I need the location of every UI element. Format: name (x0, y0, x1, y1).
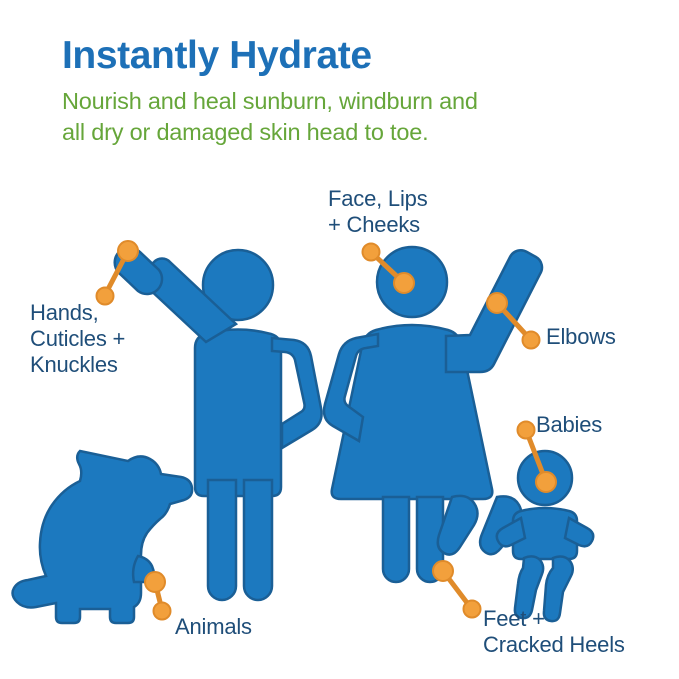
connector-animals (145, 572, 171, 620)
callout-label-face: Face, Lips + Cheeks (328, 186, 428, 238)
callout-label-feet: Feet + Cracked Heels (483, 606, 625, 658)
connector-elbows-label-dot (523, 332, 540, 349)
figure-dog (13, 451, 193, 623)
connector-elbows-anchor-dot (487, 293, 507, 313)
connector-feet (433, 561, 481, 618)
connector-animals-label-dot (154, 603, 171, 620)
connector-babies-anchor-dot (536, 472, 556, 492)
callout-label-elbows: Elbows (546, 324, 616, 350)
man-leg-left (208, 480, 236, 600)
man-leg-right (244, 480, 272, 600)
connector-animals-anchor-dot (145, 572, 165, 592)
callout-label-animals: Animals (175, 614, 252, 640)
callout-label-hands: Hands, Cuticles + Knuckles (30, 300, 125, 378)
connector-face-anchor-dot (394, 273, 414, 293)
connector-feet-label-dot (464, 601, 481, 618)
figure-man (115, 248, 322, 600)
dog-body (13, 451, 193, 623)
connector-feet-anchor-dot (433, 561, 453, 581)
callout-label-babies: Babies (536, 412, 602, 438)
woman-leg-left (383, 497, 409, 582)
connector-hands-anchor-dot (118, 241, 138, 261)
infographic-page: Instantly Hydrate Nourish and heal sunbu… (0, 0, 679, 679)
connector-face-label-dot (363, 244, 380, 261)
connector-babies-label-dot (518, 422, 535, 439)
man-torso (195, 330, 281, 497)
